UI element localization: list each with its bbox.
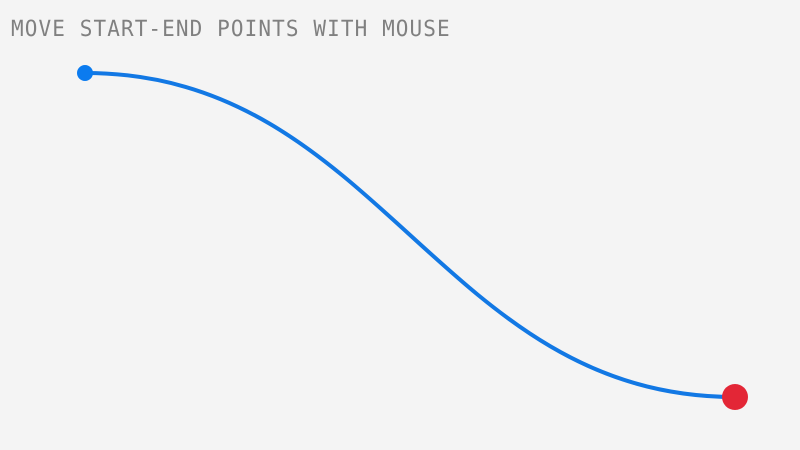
bezier-canvas[interactable]: [0, 0, 800, 450]
bezier-curve: [85, 73, 735, 397]
canvas-stage[interactable]: MOVE START-END POINTS WITH MOUSE: [0, 0, 800, 450]
page-title: MOVE START-END POINTS WITH MOUSE: [11, 16, 451, 41]
start-point-handle[interactable]: [77, 65, 93, 81]
end-point-handle[interactable]: [722, 384, 748, 410]
